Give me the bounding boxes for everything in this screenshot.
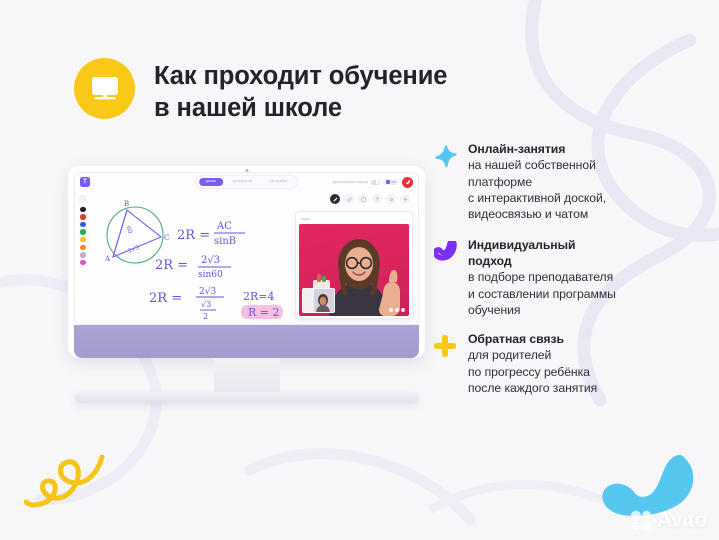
video-panel-title: видео bbox=[301, 217, 310, 221]
svg-text:R = 2: R = 2 bbox=[248, 306, 280, 319]
app-tabs: доска материалы настройки bbox=[195, 175, 299, 189]
avito-logo-icon bbox=[629, 508, 653, 532]
phone-glyph bbox=[405, 179, 411, 185]
svg-text:√3: √3 bbox=[201, 300, 211, 309]
tab-materials[interactable]: материалы bbox=[226, 178, 260, 186]
avito-watermark-text: Avito bbox=[657, 510, 707, 531]
feature-title: Онлайн-занятия bbox=[468, 142, 702, 157]
page-title: Как проходит обучение в нашей школе bbox=[154, 58, 447, 124]
plus-icon bbox=[434, 332, 458, 396]
swatch-black[interactable] bbox=[80, 207, 85, 212]
tab-settings[interactable]: настройки bbox=[262, 178, 294, 186]
avito-watermark: Avito bbox=[629, 508, 707, 532]
screen-share-toggle[interactable] bbox=[371, 180, 380, 185]
app-topbar: T доска материалы настройки демонстрация… bbox=[75, 173, 418, 191]
svg-text:2R =: 2R = bbox=[177, 228, 210, 243]
video-main-speaker bbox=[299, 224, 409, 316]
feature-title: Обратная связь bbox=[468, 332, 702, 347]
geometry-figure: B C A 60 2√3 2R = AC sinB 2R = 2√3 sin60 bbox=[93, 197, 313, 325]
lock-icon[interactable] bbox=[79, 195, 87, 203]
feature-list: Онлайн-занятия на нашей собственной плат… bbox=[434, 142, 702, 408]
svg-text:2: 2 bbox=[203, 312, 208, 321]
monitor-illustration: T доска материалы настройки демонстрация… bbox=[68, 166, 425, 358]
swatch-grey[interactable] bbox=[80, 252, 85, 257]
video-call-panel[interactable]: видео — bbox=[295, 211, 413, 319]
app-topbar-right: демонстрация экрана чат bbox=[333, 177, 413, 188]
color-palette bbox=[79, 195, 87, 265]
star-icon bbox=[434, 142, 458, 222]
svg-text:2R =: 2R = bbox=[149, 291, 182, 306]
swatch-yellow[interactable] bbox=[80, 237, 85, 242]
monitor-screen-frame: T доска материалы настройки демонстрация… bbox=[68, 166, 425, 358]
svg-text:A: A bbox=[104, 255, 111, 263]
feature-text: в подборе преподавателя и составлении пр… bbox=[468, 269, 702, 318]
swatch-red[interactable] bbox=[80, 214, 85, 219]
tab-board[interactable]: доска bbox=[199, 178, 223, 186]
svg-text:2R =: 2R = bbox=[155, 258, 188, 273]
svg-text:sinB: sinB bbox=[214, 236, 236, 247]
svg-text:B: B bbox=[124, 200, 129, 208]
more-options-icon[interactable] bbox=[389, 308, 405, 312]
svg-text:AC: AC bbox=[216, 221, 232, 232]
svg-text:60: 60 bbox=[124, 225, 134, 235]
chat-chip[interactable]: чат bbox=[383, 179, 399, 185]
svg-text:2√3: 2√3 bbox=[201, 255, 220, 266]
classroom-app: T доска материалы настройки демонстрация… bbox=[74, 172, 419, 325]
minimize-icon[interactable]: — bbox=[403, 217, 407, 221]
crescent-icon bbox=[434, 238, 458, 318]
video-panel-header: видео — bbox=[299, 217, 409, 224]
feature-title: Индивидуальный подход bbox=[468, 238, 702, 269]
svg-text:C: C bbox=[164, 234, 169, 242]
monitor-stand-base bbox=[75, 392, 419, 403]
swatch-orange[interactable] bbox=[80, 245, 85, 250]
swatch-magenta[interactable] bbox=[80, 260, 85, 265]
yellow-squiggle-icon bbox=[24, 452, 108, 518]
app-logo-icon: T bbox=[80, 177, 90, 187]
feature-text: для родителей по прогрессу ребёнка после… bbox=[468, 347, 702, 396]
screen-share-label: демонстрация экрана bbox=[333, 180, 368, 184]
feature-item-online-lessons: Онлайн-занятия на нашей собственной плат… bbox=[434, 142, 702, 222]
monitor-icon bbox=[74, 58, 135, 119]
page-header: Как проходит обучение в нашей школе bbox=[74, 58, 447, 124]
end-call-icon[interactable] bbox=[402, 177, 413, 188]
svg-text:2√3: 2√3 bbox=[199, 286, 216, 297]
feature-item-individual-approach: Индивидуальный подход в подборе преподав… bbox=[434, 238, 702, 318]
feature-item-feedback: Обратная связь для родителей по прогресс… bbox=[434, 332, 702, 396]
monitor-stand-neck bbox=[214, 358, 280, 396]
chat-chip-label: чат bbox=[391, 180, 396, 184]
student-pip[interactable] bbox=[302, 288, 335, 313]
svg-text:sin60: sin60 bbox=[198, 270, 223, 280]
chat-icon bbox=[386, 180, 390, 184]
feature-text: на нашей собственной платформе с интерак… bbox=[468, 157, 702, 222]
swatch-blue[interactable] bbox=[80, 222, 85, 227]
monitor-glyph bbox=[90, 76, 120, 102]
svg-text:2R=4: 2R=4 bbox=[243, 290, 275, 303]
student-figure bbox=[303, 289, 335, 313]
svg-text:2√3: 2√3 bbox=[127, 244, 140, 255]
swatch-green[interactable] bbox=[80, 229, 85, 234]
monitor-chin bbox=[74, 325, 419, 358]
